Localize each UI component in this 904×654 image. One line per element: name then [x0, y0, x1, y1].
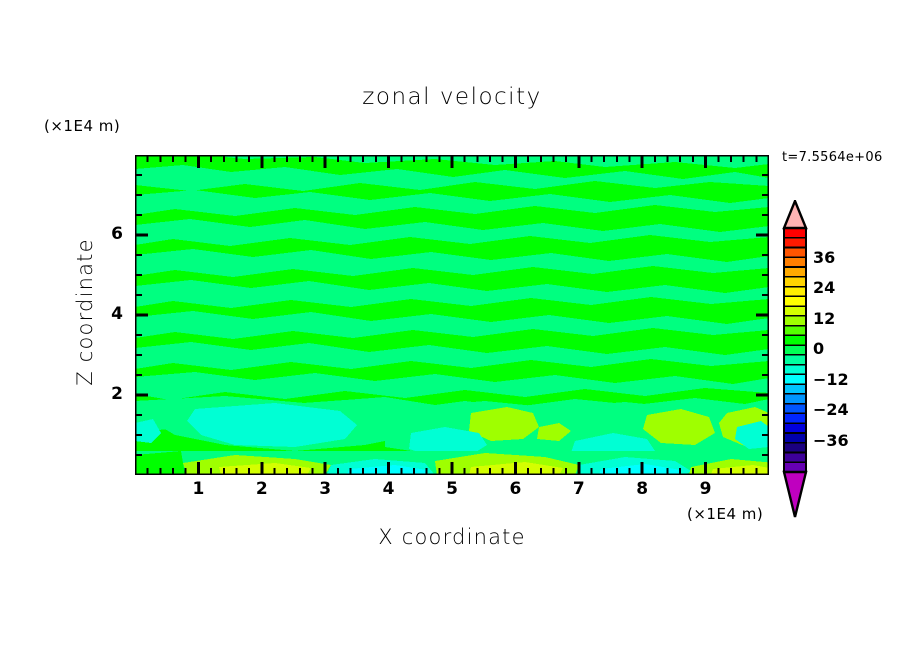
colorbar-band	[784, 296, 806, 306]
contour-plot[interactable]	[135, 155, 769, 475]
colorbar-tick-label: 36	[813, 248, 835, 267]
colorbar-band	[784, 277, 806, 287]
colorbar-band	[784, 316, 806, 326]
colorbar-band	[784, 365, 806, 375]
colorbar-band	[784, 443, 806, 453]
colorbar-tick-label: 0	[813, 339, 824, 358]
time-annotation: t=7.5564e+06	[782, 150, 883, 165]
contour-field-svg	[135, 155, 769, 475]
colorbar-band	[784, 267, 806, 277]
y-tick-label: 4	[99, 304, 123, 324]
colorbar-band	[784, 355, 806, 365]
page-title: zonal velocity	[0, 84, 904, 110]
colorbar-band	[784, 306, 806, 316]
x-tick-label: 9	[694, 479, 718, 499]
colorbar-band	[784, 384, 806, 394]
x-tick-label: 2	[250, 479, 274, 499]
y-tick-label: 2	[99, 384, 123, 404]
colorbar-band	[784, 287, 806, 297]
colorbar-band	[784, 423, 806, 433]
colorbar-over-arrow	[784, 201, 806, 228]
colorbar-tick-label: −12	[813, 370, 849, 389]
x-axis-units-label: (×1E4 m)	[687, 505, 763, 523]
x-tick-label: 8	[630, 479, 654, 499]
colorbar-band	[784, 413, 806, 423]
y-axis-units-label: (×1E4 m)	[44, 117, 120, 135]
colorbar-tick-label: 12	[813, 309, 835, 328]
colorbar-band	[784, 374, 806, 384]
colorbar-band	[784, 238, 806, 248]
colorbar-band	[784, 345, 806, 355]
x-tick-label: 1	[186, 479, 210, 499]
colorbar[interactable]	[778, 200, 814, 518]
colorbar-band	[784, 228, 806, 238]
x-tick-label: 7	[567, 479, 591, 499]
colorbar-band	[784, 248, 806, 258]
colorbar-tick-label: −24	[813, 400, 849, 419]
colorbar-band	[784, 404, 806, 414]
x-tick-label: 3	[313, 479, 337, 499]
colorbar-band	[784, 257, 806, 267]
x-axis-title: X coordinate	[135, 525, 769, 549]
colorbar-under-arrow	[784, 472, 806, 517]
y-tick-label: 6	[99, 224, 123, 244]
x-tick-label: 6	[503, 479, 527, 499]
colorbar-band	[784, 326, 806, 336]
y-axis-title: Z coordinate	[73, 212, 97, 412]
x-tick-label: 5	[440, 479, 464, 499]
colorbar-band	[784, 452, 806, 462]
colorbar-tick-label: −36	[813, 431, 849, 450]
colorbar-band	[784, 394, 806, 404]
x-tick-label: 4	[377, 479, 401, 499]
colorbar-band	[784, 433, 806, 443]
colorbar-tick-label: 24	[813, 278, 835, 297]
colorbar-band	[784, 335, 806, 345]
contour-bands	[135, 155, 769, 475]
figure-canvas: zonal velocity (×1E4 m) (×1E4 m) X coord…	[0, 0, 904, 654]
colorbar-svg	[778, 200, 814, 518]
